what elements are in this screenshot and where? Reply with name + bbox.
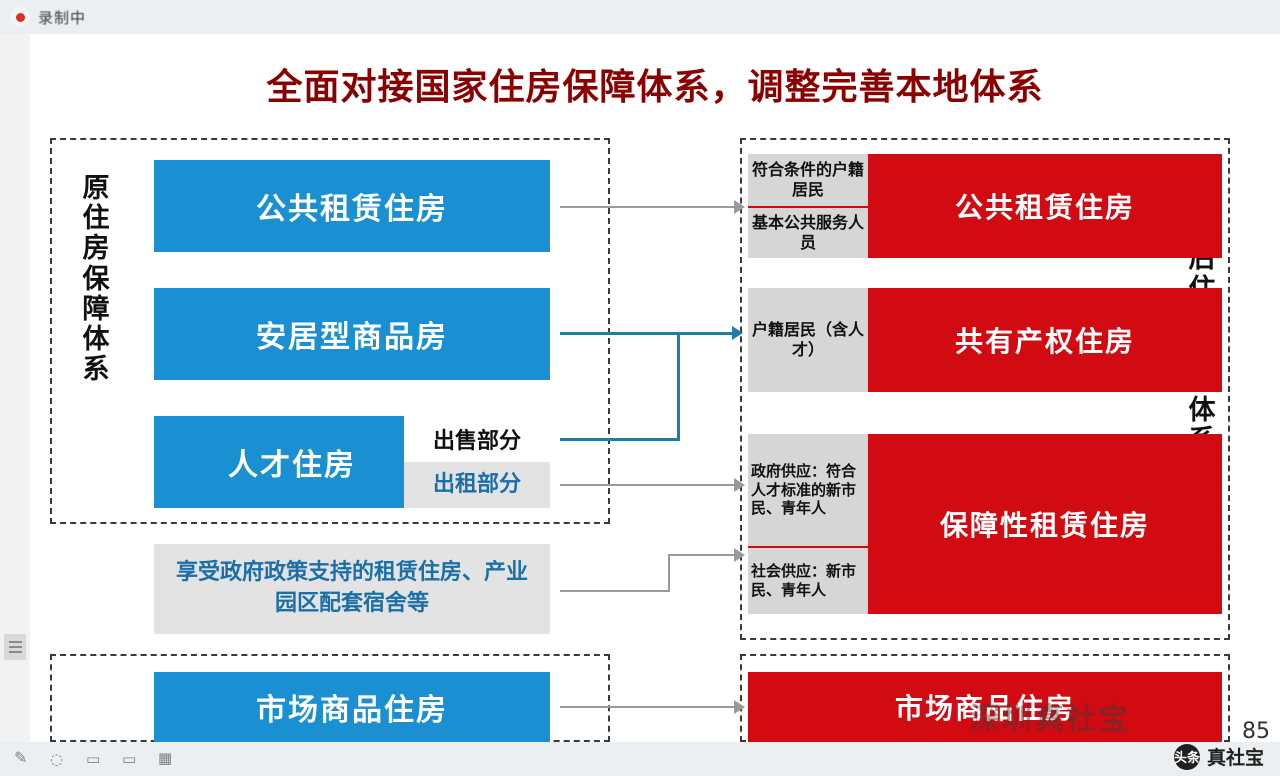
grid-icon[interactable] bbox=[158, 750, 178, 768]
tag-shared-ownership-1: 户籍居民（含人才） bbox=[748, 288, 868, 392]
left-box-anju-commodity[interactable]: 安居型商品房 bbox=[154, 288, 550, 380]
right-box-shared-ownership-label: 共有产权住房 bbox=[955, 320, 1135, 360]
arrow-anju-v bbox=[677, 332, 680, 440]
watermark-text: 深圳真社宝 bbox=[970, 694, 1130, 738]
tag-guaranteed-rental-1: 政府供应：符合人才标准的新市民、青年人 bbox=[748, 434, 868, 546]
record-dot-icon[interactable] bbox=[10, 7, 30, 27]
bottom-toolbar: 头条 真社宝 bbox=[0, 742, 1280, 776]
toutiao-icon: 头条 bbox=[1174, 744, 1200, 770]
talent-rent-part[interactable]: 出租部分 bbox=[404, 462, 550, 508]
arrow-market bbox=[560, 706, 736, 708]
recording-status-text: 录制中 bbox=[38, 7, 86, 28]
left-rail bbox=[0, 34, 30, 742]
right-box-public-rental-label: 公共租赁住房 bbox=[955, 186, 1135, 226]
arrow-public-rental bbox=[560, 206, 736, 208]
right-box-guaranteed-rental-label: 保障性租赁住房 bbox=[940, 504, 1150, 544]
brand-name: 真社宝 bbox=[1207, 743, 1264, 770]
arrow-market-head bbox=[734, 700, 745, 714]
policy-support-box[interactable]: 享受政府政策支持的租赁住房、产业园区配套宿舍等 bbox=[154, 544, 550, 634]
monitor-icon[interactable] bbox=[86, 750, 106, 768]
arrow-policy-h1 bbox=[560, 590, 670, 592]
arrow-rent-part-head bbox=[734, 478, 745, 492]
arrow-shared-in bbox=[677, 332, 737, 335]
left-system-label: 原住房保障体系 bbox=[76, 174, 116, 386]
tag-public-rental-1: 符合条件的户籍居民 bbox=[748, 154, 868, 206]
arrow-policy-h2 bbox=[668, 554, 736, 556]
arrow-public-rental-head bbox=[734, 200, 745, 214]
menu-icon[interactable] bbox=[4, 634, 26, 660]
page-title: 全面对接国家住房保障体系，调整完善本地体系 bbox=[30, 58, 1280, 110]
tag-guaranteed-rental-2: 社会供应：新市民、青年人 bbox=[748, 548, 868, 614]
page-number: 85 bbox=[1242, 719, 1270, 744]
talent-sale-part[interactable]: 出售部分 bbox=[404, 416, 550, 462]
circle-dotted-icon[interactable] bbox=[50, 750, 70, 768]
arrow-sale-h bbox=[560, 438, 680, 441]
left-box-market-commodity[interactable]: 市场商品住房 bbox=[154, 672, 550, 742]
arrow-policy-v bbox=[668, 554, 670, 592]
slide-canvas: 全面对接国家住房保障体系，调整完善本地体系 原住房保障体系 调整后住房保障体系 … bbox=[30, 34, 1280, 742]
brand-badge: 头条 真社宝 bbox=[1174, 743, 1264, 770]
left-box-talent-housing-label: 人才住房 bbox=[228, 440, 356, 484]
recorder-bar: 录制中 bbox=[0, 0, 1280, 34]
arrow-rent-part bbox=[560, 484, 736, 486]
monitor-alt-icon[interactable] bbox=[122, 750, 142, 768]
arrow-policy-head bbox=[734, 548, 745, 562]
tag-public-rental-2: 基本公共服务人员 bbox=[748, 208, 868, 258]
pencil-icon[interactable] bbox=[14, 750, 34, 768]
left-box-public-rental[interactable]: 公共租赁住房 bbox=[154, 160, 550, 252]
arrow-shared-head bbox=[732, 326, 743, 340]
arrow-anju-h bbox=[560, 332, 680, 335]
